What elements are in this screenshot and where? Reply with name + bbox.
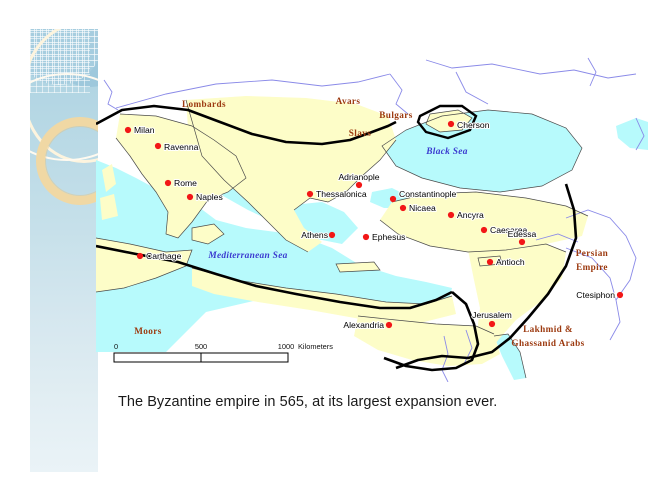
city-label-naples: Naples <box>196 192 223 202</box>
city-dot-antioch <box>487 259 493 265</box>
city-ephesus[interactable]: Ephesus <box>363 232 406 242</box>
city-dot-rome <box>165 180 171 186</box>
city-label-ancyra: Ancyra <box>457 210 484 220</box>
people-label-persian-empire-line1: Persian <box>576 248 608 258</box>
city-label-constantinople: Constantinople <box>399 189 457 199</box>
city-dot-milan <box>125 127 131 133</box>
city-label-alexandria: Alexandria <box>343 320 384 330</box>
slide-decoration-sidebar <box>30 29 98 472</box>
city-dot-jerusalem <box>489 321 495 327</box>
city-dot-cherson <box>448 121 454 127</box>
city-dot-thessalonica <box>307 191 313 197</box>
city-dot-edessa <box>519 239 525 245</box>
people-label-lakhmid-ghassanid-line1: Lakhmid & <box>523 324 573 334</box>
city-dot-constantinople <box>390 196 396 202</box>
city-dot-ravenna <box>155 143 161 149</box>
map-canvas: Lombards Avars Bulgars Slavs Moors Persi… <box>96 52 648 382</box>
city-thessalonica[interactable]: Thessalonica <box>307 189 367 199</box>
people-label-moors: Moors <box>134 326 162 336</box>
city-label-ravenna: Ravenna <box>164 142 199 152</box>
sea-label-black-sea: Black Sea <box>425 147 468 157</box>
city-label-thessalonica: Thessalonica <box>316 189 367 199</box>
people-label-lakhmid-ghassanid-line2: Ghassanid Arabs <box>511 338 584 348</box>
byzantine-empire-map: Lombards Avars Bulgars Slavs Moors Persi… <box>96 52 648 382</box>
scale-tick-1000: 1000 <box>278 342 294 351</box>
slide-caption: The Byzantine empire in 565, at its larg… <box>118 394 588 410</box>
people-label-lombards: Lombards <box>182 99 226 109</box>
people-label-bulgars: Bulgars <box>379 110 412 120</box>
city-dot-naples <box>187 194 193 200</box>
city-dot-caesarea <box>481 227 487 233</box>
scale-tick-500: 500 <box>195 342 207 351</box>
city-label-nicaea: Nicaea <box>409 203 436 213</box>
city-label-adrianople: Adrianople <box>338 172 379 182</box>
scale-unit-label: Kilometers <box>298 342 333 351</box>
city-label-athens: Athens <box>301 230 328 240</box>
city-label-antioch: Antioch <box>496 257 525 267</box>
city-label-cherson: Cherson <box>457 120 490 130</box>
people-label-persian-empire-line2: Empire <box>576 262 608 272</box>
city-dot-ephesus <box>363 234 369 240</box>
city-dot-nicaea <box>400 205 406 211</box>
city-label-carthage: Carthage <box>146 251 182 261</box>
sea-label-mediterranean-sea: Mediterranean Sea <box>207 251 287 261</box>
city-ctesiphon[interactable]: Ctesiphon <box>576 290 623 300</box>
city-dot-adrianople <box>356 182 362 188</box>
city-dot-carthage <box>137 253 143 259</box>
city-label-edessa: Edessa <box>508 229 537 239</box>
city-label-milan: Milan <box>134 125 155 135</box>
city-dot-ctesiphon <box>617 292 623 298</box>
city-label-jerusalem: Jerusalem <box>472 310 512 320</box>
scale-tick-0: 0 <box>114 342 118 351</box>
city-dot-ancyra <box>448 212 454 218</box>
city-dot-alexandria <box>386 322 392 328</box>
city-label-ephesus: Ephesus <box>372 232 405 242</box>
scale-bar-segment-2 <box>201 353 288 362</box>
city-label-ctesiphon: Ctesiphon <box>576 290 615 300</box>
city-dot-athens <box>329 232 335 238</box>
anatolia-land <box>380 192 588 252</box>
city-label-rome: Rome <box>174 178 197 188</box>
scale-bar-segment-1 <box>114 353 201 362</box>
people-label-slavs: Slavs <box>349 128 371 138</box>
people-label-avars: Avars <box>336 96 361 106</box>
